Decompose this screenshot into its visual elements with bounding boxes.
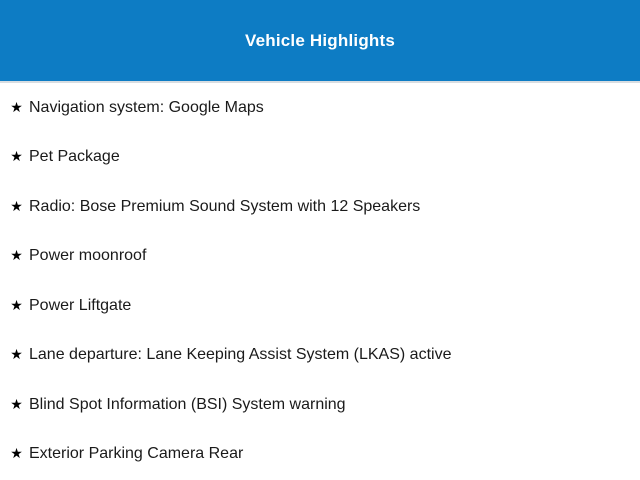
list-item-label: Pet Package xyxy=(29,147,120,167)
star-icon: ★ xyxy=(10,447,23,461)
list-item: ★Navigation system: Google Maps xyxy=(0,83,640,133)
list-item: ★Blind Spot Information (BSI) System war… xyxy=(0,380,640,430)
vehicle-highlights-panel: Vehicle Highlights ★Navigation system: G… xyxy=(0,0,640,480)
list-item: ★Radio: Bose Premium Sound System with 1… xyxy=(0,182,640,232)
panel-header: Vehicle Highlights xyxy=(0,0,640,81)
page-title: Vehicle Highlights xyxy=(0,30,640,52)
star-icon: ★ xyxy=(10,150,23,164)
list-item-label: Power Liftgate xyxy=(29,296,131,316)
star-icon: ★ xyxy=(10,101,23,115)
star-icon: ★ xyxy=(10,299,23,313)
vehicle-highlights-list: ★Navigation system: Google Maps★Pet Pack… xyxy=(0,83,640,479)
list-item-label: Lane departure: Lane Keeping Assist Syst… xyxy=(29,345,451,365)
list-item-label: Radio: Bose Premium Sound System with 12… xyxy=(29,197,420,217)
list-item: ★Exterior Parking Camera Rear xyxy=(0,430,640,480)
list-item: ★Power Liftgate xyxy=(0,281,640,331)
list-item-label: Exterior Parking Camera Rear xyxy=(29,444,243,464)
list-item: ★Power moonroof xyxy=(0,232,640,282)
star-icon: ★ xyxy=(10,249,23,263)
list-item: ★Lane departure: Lane Keeping Assist Sys… xyxy=(0,331,640,381)
list-item-label: Navigation system: Google Maps xyxy=(29,98,264,118)
list-item-label: Power moonroof xyxy=(29,246,146,266)
star-icon: ★ xyxy=(10,398,23,412)
list-item: ★Pet Package xyxy=(0,133,640,183)
list-item-label: Blind Spot Information (BSI) System warn… xyxy=(29,395,346,415)
star-icon: ★ xyxy=(10,200,23,214)
star-icon: ★ xyxy=(10,348,23,362)
